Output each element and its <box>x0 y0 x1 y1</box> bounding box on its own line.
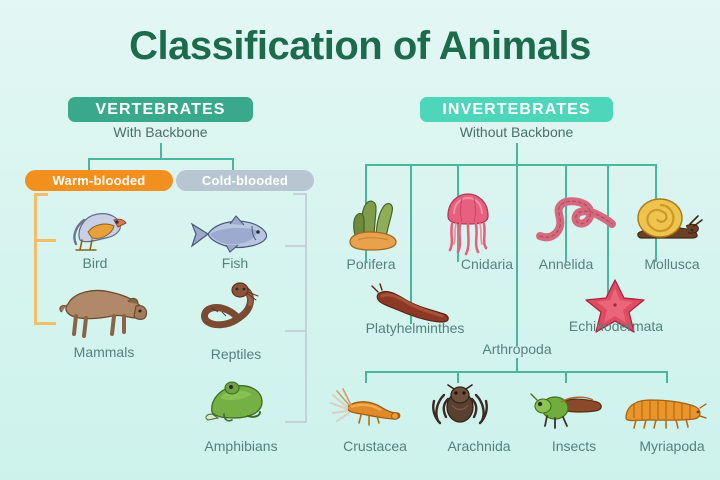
snail-icon <box>628 196 706 248</box>
cold-bracket-tick-top <box>293 193 307 195</box>
warm-bracket-tick-bird <box>34 239 56 242</box>
label-annelida: Annelida <box>514 256 618 272</box>
warm-blooded-pill: Warm-blooded <box>25 170 173 191</box>
drop-insects <box>565 371 567 383</box>
fly-icon <box>531 388 609 430</box>
invertebrates-stem <box>516 143 518 165</box>
cold-bracket-tick-amphibians <box>285 421 307 423</box>
label-mollusca: Mollusca <box>620 256 720 272</box>
vertebrates-stem <box>160 143 162 159</box>
drop-arachnida <box>457 371 459 383</box>
shrimp-icon <box>327 387 407 431</box>
invertebrates-subtitle: Without Backbone <box>420 124 613 140</box>
label-myriapoda: Myriapoda <box>616 438 720 454</box>
cold-blooded-pill: Cold-blooded <box>176 170 314 191</box>
label-arachnida: Arachnida <box>424 438 534 454</box>
cold-bracket-tick-fish <box>285 245 307 247</box>
jellyfish-icon <box>438 190 498 258</box>
label-arthropoda: Arthropoda <box>460 341 574 357</box>
invertebrates-badge: INVERTEBRATES <box>420 97 613 122</box>
spider-icon <box>428 383 494 431</box>
warm-bracket-tick-top <box>34 193 48 196</box>
label-echinodermata: Echinodermata <box>548 318 684 334</box>
cold-bracket-spine <box>305 193 307 423</box>
label-insects: Insects <box>528 438 620 454</box>
cold-bracket-tick-reptiles <box>285 330 307 332</box>
drop-myriapoda <box>666 371 668 383</box>
arthropoda-crossbar <box>365 371 668 373</box>
page-title: Classification of Animals <box>0 24 720 69</box>
snake-icon <box>196 282 272 340</box>
boar-icon <box>52 278 152 340</box>
sponge-icon <box>342 192 406 254</box>
fish-icon <box>186 212 274 256</box>
drop-arthropoda <box>516 164 518 346</box>
vertebrates-badge: VERTEBRATES <box>68 97 253 122</box>
drop-crustacea <box>365 371 367 383</box>
earthworm-icon <box>534 196 618 248</box>
vertebrates-crossbar <box>88 158 234 160</box>
label-reptiles: Reptiles <box>176 346 296 362</box>
warm-bracket-spine <box>34 193 37 325</box>
bird-icon <box>62 200 134 256</box>
frog-icon <box>198 378 274 428</box>
label-mammals: Mammals <box>40 344 168 360</box>
label-fish: Fish <box>182 255 288 271</box>
label-amphibians: Amphibians <box>176 438 306 454</box>
label-porifera: Porifera <box>316 256 426 272</box>
label-bird: Bird <box>40 255 150 271</box>
vertebrates-subtitle: With Backbone <box>68 124 253 140</box>
infographic-canvas: Classification of Animals VERTEBRATES Wi… <box>0 0 720 480</box>
invertebrates-crossbar <box>365 164 656 166</box>
centipede-icon <box>620 392 706 430</box>
label-crustacea: Crustacea <box>320 438 430 454</box>
arthropoda-stem <box>516 358 518 372</box>
label-platyhelminthes: Platyhelminthes <box>340 320 490 336</box>
